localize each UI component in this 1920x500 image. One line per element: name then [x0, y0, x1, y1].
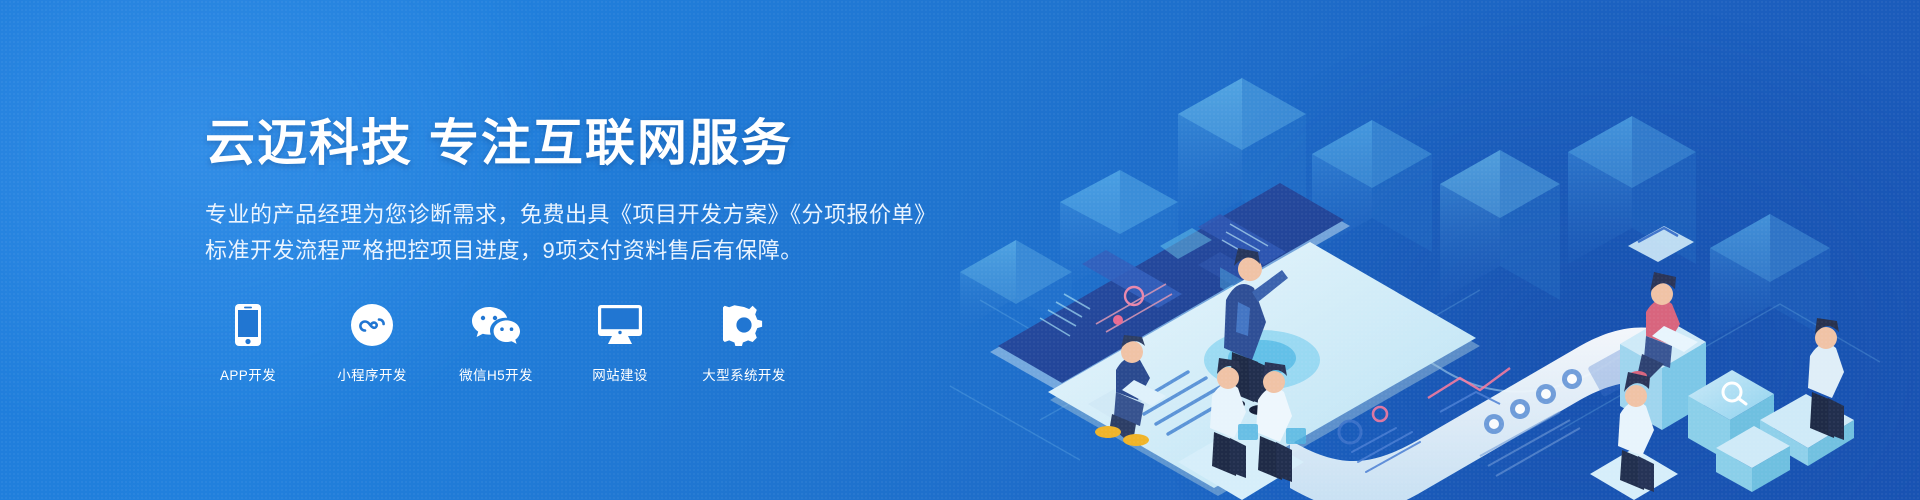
- service-item-large-system[interactable]: 大型系统开发: [701, 302, 787, 384]
- banner-content: 云迈科技 专注互联网服务 专业的产品经理为您诊断需求，免费出具《项目开发方案》《…: [205, 0, 937, 500]
- service-label: 大型系统开发: [702, 364, 785, 384]
- page-title: 云迈科技 专注互联网服务: [205, 116, 937, 171]
- service-label: 微信H5开发: [459, 364, 533, 384]
- mini-program-icon: [351, 302, 393, 348]
- service-item-app[interactable]: APP开发: [205, 302, 291, 384]
- wechat-icon: [471, 302, 521, 348]
- service-item-miniprogram[interactable]: 小程序开发: [329, 302, 415, 384]
- subtitle-line-1: 专业的产品经理为您诊断需求，免费出具《项目开发方案》《分项报价单》: [205, 197, 937, 233]
- service-label: 小程序开发: [337, 364, 407, 384]
- mobile-phone-icon: [235, 302, 261, 348]
- subtitle-block: 专业的产品经理为您诊断需求，免费出具《项目开发方案》《分项报价单》 标准开发流程…: [205, 197, 937, 268]
- hero-illustration: [920, 0, 1920, 500]
- service-item-website[interactable]: 网站建设: [577, 302, 663, 384]
- service-label: APP开发: [220, 364, 276, 384]
- desktop-monitor-icon: [598, 302, 642, 348]
- service-icon-row: APP开发 小程序开发: [205, 302, 937, 384]
- service-item-wechat-h5[interactable]: 微信H5开发: [453, 302, 539, 384]
- promo-banner: 云迈科技 专注互联网服务 专业的产品经理为您诊断需求，免费出具《项目开发方案》《…: [0, 0, 1920, 500]
- subtitle-line-2: 标准开发流程严格把控项目进度，9项交付资料售后有保障。: [205, 233, 937, 269]
- gear-icon: [723, 302, 765, 348]
- service-label: 网站建设: [592, 364, 648, 384]
